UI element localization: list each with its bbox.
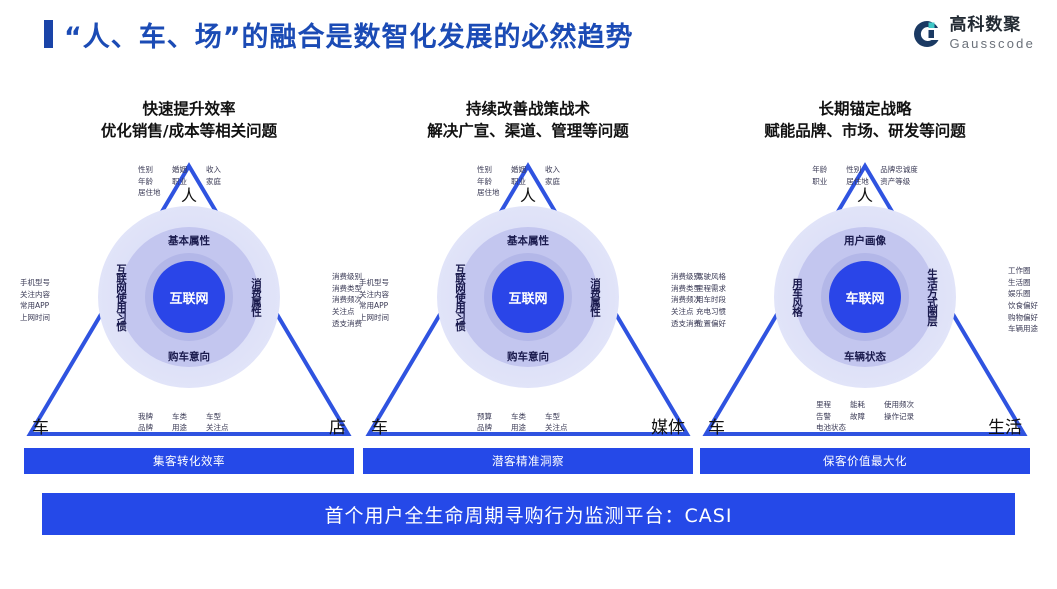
attribute-item: 品牌忠诚度: [880, 164, 918, 176]
ring-label-left: 互联网使用习惯: [114, 264, 129, 331]
attribute-row: 性别婚姻收入: [138, 164, 240, 176]
gausscode-logo-icon: [912, 19, 942, 49]
attribute-item: 故障: [850, 411, 884, 423]
attribute-item: 性别: [846, 164, 880, 176]
attribute-item: 用途: [172, 422, 206, 434]
attribute-row: 用车时段: [696, 294, 726, 306]
column-0: 快速提升效率优化销售/成本等相关问题互联网互联网基本属性购车意向互联网使用习惯消…: [24, 98, 354, 518]
triangle-apex-label: 人: [24, 182, 354, 206]
outcome-bar: 潜客精准洞察: [363, 448, 693, 474]
attribute-row: 里程能耗使用频次: [816, 399, 914, 411]
attribute-row: 常用APP: [20, 300, 50, 312]
attribute-row: 上网时间: [359, 312, 389, 324]
footer-platform-label: 首个用户全生命周期寻购行为监测平台：CASI: [325, 501, 733, 528]
concentric-rings-diagram: 互联网车联网用户画像车辆状态用车风格生活方式圈层: [774, 206, 956, 388]
attribute-item: 常用APP: [359, 301, 388, 310]
attribute-item: 上网时间: [20, 313, 50, 322]
column-heading-line1: 持续改善战策战术: [363, 98, 693, 120]
column-heading-line2: 优化销售/成本等相关问题: [24, 120, 354, 142]
ring-label-right: 生活方式圈层: [925, 269, 940, 326]
column-2: 长期锚定战略赋能品牌、市场、研发等问题互联网车联网用户画像车辆状态用车风格生活方…: [700, 98, 1030, 518]
triangle-corner-label-left: 车: [32, 413, 49, 438]
attribute-item: 车型: [206, 411, 240, 423]
attribute-item: 常用APP: [20, 301, 49, 310]
triangle-corner-label-right: 店: [329, 413, 346, 438]
attribute-item: 手机型号: [359, 278, 389, 287]
attribute-row: 电池状态: [816, 422, 914, 434]
ring-label-bottom: 购车意向: [168, 349, 210, 364]
attributes-left: 手机型号关注内容常用APP上网时间: [20, 277, 50, 324]
outcome-bar-label: 集客转化效率: [153, 453, 225, 469]
attribute-item: 上网时间: [359, 313, 389, 322]
concentric-rings-diagram: 互联网互联网基本属性购车意向互联网使用习惯消费属性: [98, 206, 280, 388]
outcome-bar-label: 潜客精准洞察: [492, 453, 564, 469]
attribute-item: 收入: [206, 164, 240, 176]
ring-core: 互联网: [492, 261, 564, 333]
attribute-item: 关注点: [545, 422, 579, 434]
attribute-row: 透支消费: [332, 317, 362, 329]
attributes-right: 工作圈生活圈娱乐圈饮食偏好购物偏好车辆用途: [1008, 265, 1038, 335]
attribute-item: 生活圈: [1008, 278, 1031, 287]
attributes-bottom: 我牌车类车型品牌用途关注点: [138, 411, 240, 434]
triangle-corner-label-left: 车: [708, 413, 725, 438]
attribute-item: 收入: [545, 164, 579, 176]
attribute-item: 里程: [816, 399, 850, 411]
attribute-item: 车类: [511, 411, 545, 423]
ring-label-right: 消费属性: [588, 278, 603, 316]
attribute-item: 预算: [477, 411, 511, 423]
attribute-item: 关注内容: [20, 289, 50, 298]
attribute-item: 车型: [545, 411, 579, 423]
column-heading-line1: 快速提升效率: [24, 98, 354, 120]
attributes-left: 手机型号关注内容常用APP上网时间: [359, 277, 389, 324]
ring-core: 车联网: [829, 261, 901, 333]
triangle-apex-label: 人: [700, 182, 1030, 206]
ring-core-label: 互联网: [508, 288, 547, 307]
attribute-item: 消费类型: [332, 284, 362, 293]
attribute-row: 手机型号: [359, 277, 389, 289]
attribute-item: 告警: [816, 411, 850, 423]
ring-label-top: 用户画像: [844, 233, 886, 248]
outcome-bar: 保客价值最大化: [700, 448, 1030, 474]
attributes-bottom: 预算车类车型品牌用途关注点: [477, 411, 579, 434]
attribute-row: 消费频次: [332, 294, 362, 306]
ring-core-label: 车联网: [845, 288, 884, 307]
attributes-right: 消费级别消费类型消费频次关注点透支消费: [332, 271, 362, 329]
column-heading-line2: 赋能品牌、市场、研发等问题: [700, 120, 1030, 142]
attribute-item: 婚姻: [511, 164, 545, 176]
triangle-block: 互联网互联网基本属性购车意向互联网使用习惯消费属性性别婚姻收入年龄职业家庭居住地…: [363, 160, 693, 440]
footer-platform-bar: 首个用户全生命周期寻购行为监测平台：CASI: [42, 493, 1015, 535]
attribute-item: 位置偏好: [696, 318, 726, 327]
attribute-item: 工作圈: [1008, 266, 1031, 275]
attribute-item: 车辆用途: [1008, 324, 1038, 333]
ring-label-right: 消费属性: [249, 278, 264, 316]
attribute-item: 用车时段: [696, 295, 726, 304]
attribute-item: 里程需求: [696, 284, 726, 293]
attribute-item: 使用频次: [884, 399, 914, 411]
attribute-item: 饮食偏好: [1008, 301, 1038, 310]
slide-header: “人、车、场”的融合是数智化发展的必然趋势 高科数聚 Gausscode: [0, 0, 1057, 68]
ring-core: 互联网: [153, 261, 225, 333]
attribute-row: 消费类型: [332, 283, 362, 295]
attribute-row: 品牌用途关注点: [138, 422, 240, 434]
slide-root: “人、车、场”的融合是数智化发展的必然趋势 高科数聚 Gausscode 快速提…: [0, 0, 1057, 589]
column-heading: 持续改善战策战术解决广宣、渠道、管理等问题: [363, 98, 693, 143]
attribute-item: 购物偏好: [1008, 313, 1038, 322]
attribute-item: 充电习惯: [696, 307, 726, 316]
attribute-item: 年龄: [812, 164, 846, 176]
attribute-row: 关注内容: [20, 288, 50, 300]
outcome-bar-label: 保客价值最大化: [823, 453, 907, 469]
attribute-item: 车类: [172, 411, 206, 423]
triangle-corner-label-right: 媒体: [651, 413, 685, 438]
attribute-item: 电池状态: [816, 422, 846, 434]
triangle-block: 互联网互联网基本属性购车意向互联网使用习惯消费属性性别婚姻收入年龄职业家庭居住地…: [24, 160, 354, 440]
attribute-row: 充电习惯: [696, 306, 726, 318]
attribute-item: 关注点: [206, 422, 240, 434]
attribute-item: 透支消费: [332, 318, 362, 327]
attribute-item: 性别: [138, 164, 172, 176]
attribute-row: 关注内容: [359, 288, 389, 300]
attribute-item: 关注点: [671, 307, 694, 316]
attributes-bottom: 里程能耗使用频次告警故障操作记录电池状态: [816, 399, 914, 434]
column-heading-line2: 解决广宣、渠道、管理等问题: [363, 120, 693, 142]
attribute-row: 品牌用途关注点: [477, 422, 579, 434]
ring-core-label: 互联网: [169, 288, 208, 307]
attribute-item: 消费级别: [332, 272, 362, 281]
attribute-row: 关注点: [332, 306, 362, 318]
attribute-row: 工作圈: [1008, 265, 1038, 277]
ring-label-bottom: 车辆状态: [844, 349, 886, 364]
column-heading: 快速提升效率优化销售/成本等相关问题: [24, 98, 354, 143]
outcome-bar: 集客转化效率: [24, 448, 354, 474]
column-heading: 长期锚定战略赋能品牌、市场、研发等问题: [700, 98, 1030, 143]
ring-label-top: 基本属性: [507, 233, 549, 248]
attributes-left: 驾驶风格里程需求用车时段充电习惯位置偏好: [696, 271, 726, 329]
attribute-item: 手机型号: [20, 278, 50, 287]
logo-name-en: Gausscode: [949, 37, 1035, 50]
attribute-row: 我牌车类车型: [138, 411, 240, 423]
attribute-row: 娱乐圈: [1008, 288, 1038, 300]
attribute-item: 关注点: [332, 307, 355, 316]
attribute-row: 性别婚姻收入: [477, 164, 579, 176]
attribute-row: 生活圈: [1008, 277, 1038, 289]
triangle-block: 互联网车联网用户画像车辆状态用车风格生活方式圈层年龄性别品牌忠诚度职业居住地资产…: [700, 160, 1030, 440]
attribute-row: 驾驶风格: [696, 271, 726, 283]
attribute-row: 购物偏好: [1008, 312, 1038, 324]
attribute-item: 品牌: [477, 422, 511, 434]
attribute-item: 关注内容: [359, 289, 389, 298]
attribute-row: 里程需求: [696, 283, 726, 295]
concentric-rings-diagram: 互联网互联网基本属性购车意向互联网使用习惯消费属性: [437, 206, 619, 388]
attribute-item: 我牌: [138, 411, 172, 423]
attribute-row: 常用APP: [359, 300, 389, 312]
attribute-row: 上网时间: [20, 312, 50, 324]
ring-label-top: 基本属性: [168, 233, 210, 248]
attribute-row: 位置偏好: [696, 317, 726, 329]
column-heading-line1: 长期锚定战略: [700, 98, 1030, 120]
attribute-row: 车辆用途: [1008, 323, 1038, 335]
attribute-row: 饮食偏好: [1008, 300, 1038, 312]
triangle-corner-label-right: 生活: [988, 413, 1022, 438]
attribute-row: 告警故障操作记录: [816, 411, 914, 423]
attribute-item: 消费频次: [332, 295, 362, 304]
attribute-item: 婚姻: [172, 164, 206, 176]
page-title: “人、车、场”的融合是数智化发展的必然趋势: [64, 15, 634, 54]
brand-logo: 高科数聚 Gausscode: [912, 17, 1035, 50]
triangle-apex-label: 人: [363, 182, 693, 206]
attribute-item: 驾驶风格: [696, 272, 726, 281]
ring-label-bottom: 购车意向: [507, 349, 549, 364]
attribute-row: 预算车类车型: [477, 411, 579, 423]
logo-name-cn: 高科数聚: [949, 17, 1035, 34]
attribute-item: 用途: [511, 422, 545, 434]
triangle-corner-label-left: 车: [371, 413, 388, 438]
column-1: 持续改善战策战术解决广宣、渠道、管理等问题互联网互联网基本属性购车意向互联网使用…: [363, 98, 693, 518]
attribute-row: 手机型号: [20, 277, 50, 289]
attribute-row: 年龄性别品牌忠诚度: [812, 164, 918, 176]
attribute-item: 操作记录: [884, 411, 914, 423]
attribute-item: 娱乐圈: [1008, 289, 1031, 298]
attribute-item: 品牌: [138, 422, 172, 434]
attribute-row: 消费级别: [332, 271, 362, 283]
ring-label-left: 用车风格: [790, 278, 805, 316]
title-bullet-icon: [44, 20, 53, 48]
attribute-item: 性别: [477, 164, 511, 176]
ring-label-left: 互联网使用习惯: [453, 264, 468, 331]
attribute-item: 能耗: [850, 399, 884, 411]
